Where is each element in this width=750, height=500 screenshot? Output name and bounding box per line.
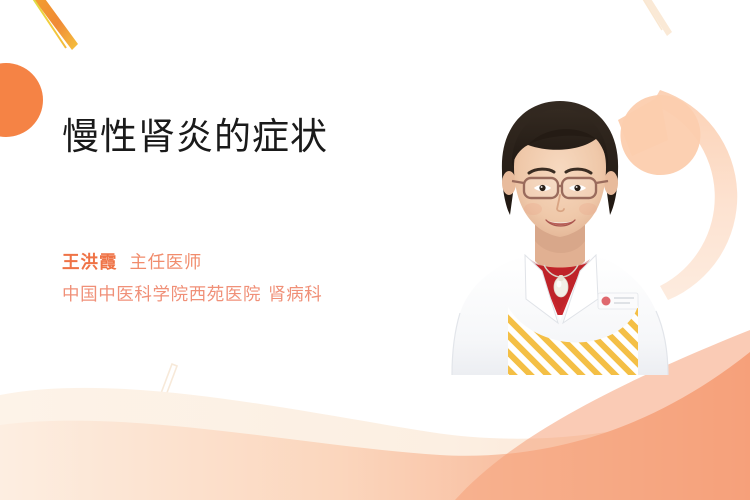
thumbnail-slide: 慢性肾炎的症状 王洪霞主任医师 中国中医科学院西苑医院肾病科 [0, 0, 750, 500]
doctor-name: 王洪霞 [62, 252, 118, 272]
doctor-department: 肾病科 [268, 284, 322, 304]
page-title: 慢性肾炎的症状 [62, 112, 452, 162]
bottom-faint-stroke [160, 364, 177, 398]
doctor-title: 主任医师 [130, 252, 202, 272]
top-right-faint-strokes [640, 0, 672, 36]
orange-circle-decoration [0, 63, 43, 137]
wave-cream [0, 388, 750, 500]
doctor-credit-block: 王洪霞主任医师 中国中医科学院西苑医院肾病科 [62, 246, 322, 310]
top-left-diagonal-strokes [30, 0, 78, 50]
doctor-portrait [430, 75, 700, 395]
doctor-line: 王洪霞主任医师 [62, 246, 322, 278]
affiliation-line: 中国中医科学院西苑医院肾病科 [62, 278, 322, 310]
doctor-affiliation: 中国中医科学院西苑医院 [62, 284, 261, 304]
title-block: 慢性肾炎的症状 [62, 112, 452, 162]
